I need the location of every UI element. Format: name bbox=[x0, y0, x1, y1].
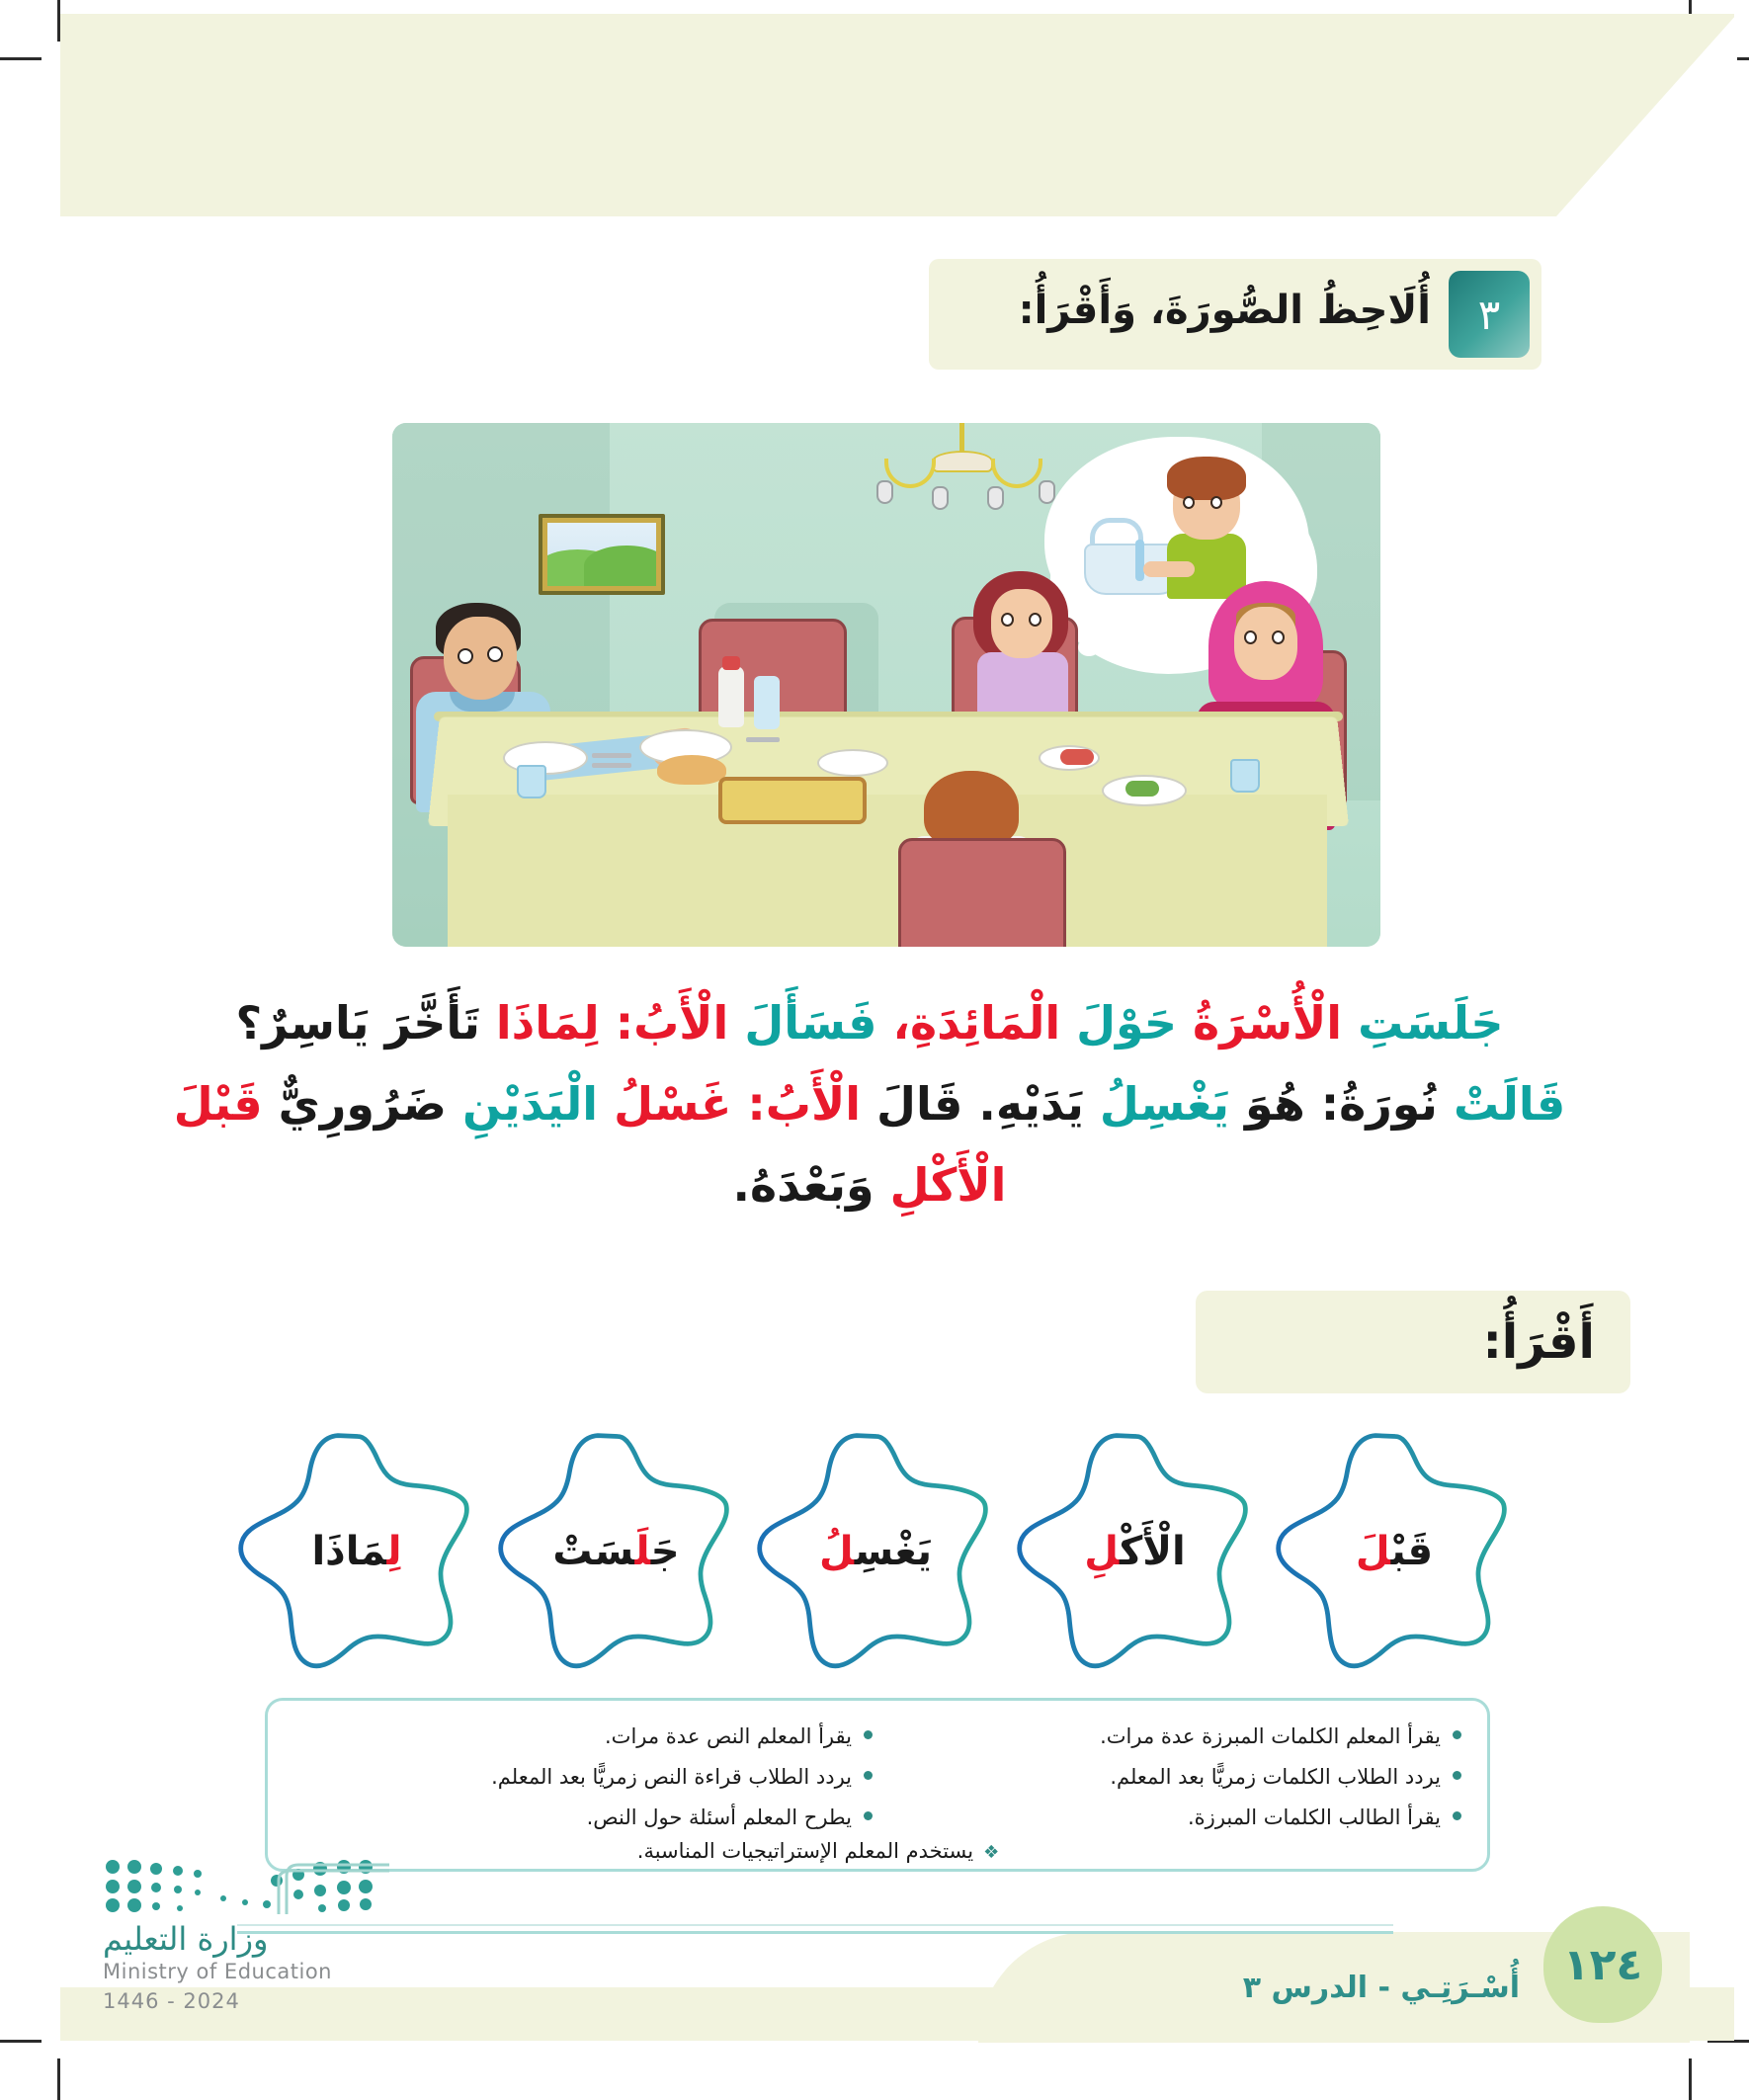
star-word-text: الْأَكْلِ bbox=[1084, 1529, 1185, 1574]
girl-eye bbox=[1029, 613, 1041, 627]
task-number-badge: ٣ bbox=[1449, 271, 1530, 358]
tablecloth bbox=[448, 795, 1327, 947]
word-star-card[interactable]: يَغْسِلُ bbox=[752, 1427, 999, 1672]
passage-word: يَاسِرٌ؟ bbox=[235, 996, 369, 1050]
teacher-note-extra-text: يستخدم المعلم الإستراتيجيات المناسبة. bbox=[637, 1839, 973, 1863]
teacher-note-item: يردد الطلاب الكلمات زمريًّا بعد المعلم. bbox=[882, 1757, 1461, 1798]
food-item bbox=[1125, 781, 1159, 797]
top-decorative-band bbox=[60, 14, 1734, 216]
chandelier-body bbox=[932, 451, 993, 472]
bullet-dot-icon bbox=[1453, 1771, 1461, 1780]
passage-word: هُوَ bbox=[1245, 1077, 1305, 1131]
task-header: ٣ أُلَاحِظُ الصُّورَةَ، وَأَقْرَأُ: bbox=[929, 259, 1541, 370]
word-star-card[interactable]: الْأَكْلِ bbox=[1012, 1427, 1259, 1672]
passage-word: فَسَأَلَ bbox=[744, 996, 876, 1050]
teacher-note-item: يقرأ المعلم النص عدة مرات. bbox=[293, 1717, 873, 1757]
mother-face bbox=[1234, 607, 1297, 680]
crop-mark-icon bbox=[0, 2040, 42, 2043]
bubble-boy-arm bbox=[1143, 561, 1195, 577]
task-title: أُلَاحِظُ الصُّورَةَ، وَأَقْرَأُ: bbox=[949, 279, 1431, 342]
teacher-note-extra: ❖ يستخدم المعلم الإستراتيجيات المناسبة. bbox=[268, 1839, 1487, 1863]
passage-word: قَالَ bbox=[876, 1077, 962, 1131]
ministry-name-arabic: وزارة التعليم bbox=[103, 1920, 268, 1958]
diamond-bullet-icon: ❖ bbox=[983, 1842, 999, 1863]
bullet-dot-icon bbox=[864, 1811, 873, 1820]
crop-mark-icon bbox=[1689, 2058, 1692, 2100]
chandelier-bulb-icon bbox=[987, 486, 1004, 510]
passage-word: يَدَيْهِ. bbox=[978, 1077, 1084, 1131]
thought-bubble-dot bbox=[1078, 638, 1100, 656]
star-word-text: لِمَاذَا bbox=[311, 1529, 401, 1574]
water-stream-icon bbox=[1135, 540, 1144, 581]
chandelier-bulb-icon bbox=[876, 480, 893, 504]
teacher-note-text: يردد الطلاب قراءة النص زمريًّا بعد المعل… bbox=[491, 1757, 852, 1798]
footer-lesson-label: أُسْـرَتِـي - الدرس ٣ bbox=[1243, 1971, 1520, 2005]
passage-word: الْأَبُ: bbox=[616, 996, 729, 1050]
page-number-badge: ١٢٤ bbox=[1543, 1906, 1662, 2023]
bullet-dot-icon bbox=[1453, 1730, 1461, 1739]
star-word-text: يَغْسِلُ bbox=[819, 1529, 932, 1574]
teacher-note-text: يقرأ المعلم النص عدة مرات. bbox=[605, 1717, 852, 1757]
lesson-illustration bbox=[392, 423, 1380, 947]
passage-word: الْأَبُ: bbox=[747, 1077, 861, 1131]
picture-hill bbox=[584, 546, 656, 586]
father-eye bbox=[458, 648, 473, 664]
teacher-note-item: يردد الطلاب قراءة النص زمريًّا بعد المعل… bbox=[293, 1757, 873, 1798]
cup-icon bbox=[1230, 759, 1260, 793]
dining-chair bbox=[898, 838, 1066, 947]
passage-word: نُورَةُ: bbox=[1321, 1077, 1438, 1131]
bubble-boy-eye bbox=[1210, 496, 1222, 509]
passage-word: لِمَاذَا bbox=[496, 996, 600, 1050]
passage-word: غَسْلُ bbox=[614, 1077, 731, 1131]
passage-word: تَأَخَّرَ bbox=[385, 996, 480, 1050]
read-section-banner: أَقْرَأُ: bbox=[1196, 1291, 1630, 1393]
passage-word: جَلَسَتِ bbox=[1358, 996, 1503, 1050]
textbook-page: ٣ أُلَاحِظُ الصُّورَةَ، وَأَقْرَأُ: bbox=[0, 0, 1749, 2100]
passage-word: قَبْلَ bbox=[174, 1077, 263, 1131]
bottle-icon bbox=[754, 676, 780, 729]
bubble-boy-eye bbox=[1183, 496, 1195, 509]
passage-word: الْمَائِدَةِ، bbox=[892, 996, 1060, 1050]
crop-mark-icon bbox=[0, 57, 42, 60]
girl-eye bbox=[1001, 613, 1014, 627]
passage-word: وَبَعْدَهُ. bbox=[733, 1158, 874, 1212]
plate-icon bbox=[817, 749, 888, 777]
teacher-note-text: يقرأ الطالب الكلمات المبرزة. bbox=[1188, 1798, 1441, 1838]
read-section-title: أَقْرَأُ: bbox=[1196, 1291, 1630, 1393]
word-star-card[interactable]: جَلَسَتْ bbox=[493, 1427, 740, 1672]
bullet-dot-icon bbox=[864, 1771, 873, 1780]
word-star-row: لِمَاذَاجَلَسَتْيَغْسِلُالْأَكْلِقَبْلَ bbox=[233, 1421, 1518, 1678]
mother-eye bbox=[1272, 630, 1285, 644]
bullet-dot-icon bbox=[864, 1730, 873, 1739]
cutlery-icon bbox=[592, 753, 631, 758]
passage-line-1: جَلَسَتِ الْأُسْرَةُ حَوْلَ الْمَائِدَةِ… bbox=[138, 983, 1601, 1064]
passage-word: قَالَتْ bbox=[1454, 1077, 1565, 1131]
passage-word: حَوْلَ bbox=[1076, 996, 1177, 1050]
bottle-cap bbox=[722, 656, 740, 670]
bullet-dot-icon bbox=[1453, 1811, 1461, 1820]
passage-word: الْأُسْرَةُ bbox=[1193, 996, 1342, 1050]
ministry-name-english: Ministry of Education bbox=[103, 1960, 332, 1983]
food-item bbox=[1060, 749, 1094, 765]
teacher-note-text: يطرح المعلم أسئلة حول النص. bbox=[587, 1798, 852, 1838]
cup-icon bbox=[517, 765, 546, 798]
bottle-icon bbox=[718, 666, 744, 727]
chandelier-stem bbox=[959, 423, 964, 453]
ministry-year: 2024 - 1446 bbox=[103, 1989, 240, 2013]
father-eye bbox=[487, 646, 503, 662]
passage-word: ضَرُورِيٌّ bbox=[279, 1077, 447, 1131]
teacher-notes-box: يقرأ المعلم النص عدة مرات.يردد الطلاب قر… bbox=[265, 1698, 1490, 1872]
mother-eye bbox=[1244, 630, 1257, 644]
star-word-text: قَبْلَ bbox=[1356, 1529, 1433, 1574]
food-tray-icon bbox=[718, 777, 867, 824]
teacher-note-item: يقرأ المعلم الكلمات المبرزة عدة مرات. bbox=[882, 1717, 1461, 1757]
wall-picture-image bbox=[547, 523, 656, 586]
crop-mark-icon bbox=[57, 2058, 60, 2100]
teacher-note-item: يقرأ الطالب الكلمات المبرزة. bbox=[882, 1798, 1461, 1838]
star-word-text: جَلَسَتْ bbox=[552, 1529, 679, 1574]
moe-dot-pattern-icon bbox=[103, 1857, 389, 1914]
teacher-note-text: يردد الطلاب الكلمات زمريًّا بعد المعلم. bbox=[1110, 1757, 1441, 1798]
passage-word: الْأَكْلِ bbox=[890, 1158, 1007, 1212]
faucet-icon bbox=[1090, 518, 1143, 544]
passage-line-2: قَالَتْ نُورَةُ: هُوَ يَغْسِلُ يَدَيْهِ.… bbox=[138, 1064, 1601, 1145]
girl-head bbox=[991, 589, 1052, 658]
passage-line-3: الْأَكْلِ وَبَعْدَهُ. bbox=[138, 1145, 1601, 1226]
passage-word: يَغْسِلُ bbox=[1100, 1077, 1229, 1131]
boy-front-hair bbox=[924, 771, 1019, 848]
teacher-note-text: يقرأ المعلم الكلمات المبرزة عدة مرات. bbox=[1100, 1717, 1441, 1757]
wall-picture-frame-icon bbox=[539, 514, 665, 595]
word-star-card[interactable]: قَبْلَ bbox=[1271, 1427, 1518, 1672]
chandelier-bulb-icon bbox=[932, 486, 949, 510]
passage-word: الْيَدَيْنِ bbox=[462, 1077, 598, 1131]
father-head bbox=[444, 617, 517, 700]
reading-passage: جَلَسَتِ الْأُسْرَةُ حَوْلَ الْمَائِدَةِ… bbox=[138, 983, 1601, 1226]
teacher-note-item: يطرح المعلم أسئلة حول النص. bbox=[293, 1798, 873, 1838]
word-star-card[interactable]: لِمَاذَا bbox=[233, 1427, 480, 1672]
cutlery-icon bbox=[746, 737, 780, 742]
bread-icon bbox=[657, 755, 726, 785]
cutlery-icon bbox=[592, 763, 631, 768]
ministry-of-education-logo: وزارة التعليم Ministry of Education 2024… bbox=[95, 1855, 421, 2023]
bubble-boy-hair bbox=[1167, 457, 1246, 500]
